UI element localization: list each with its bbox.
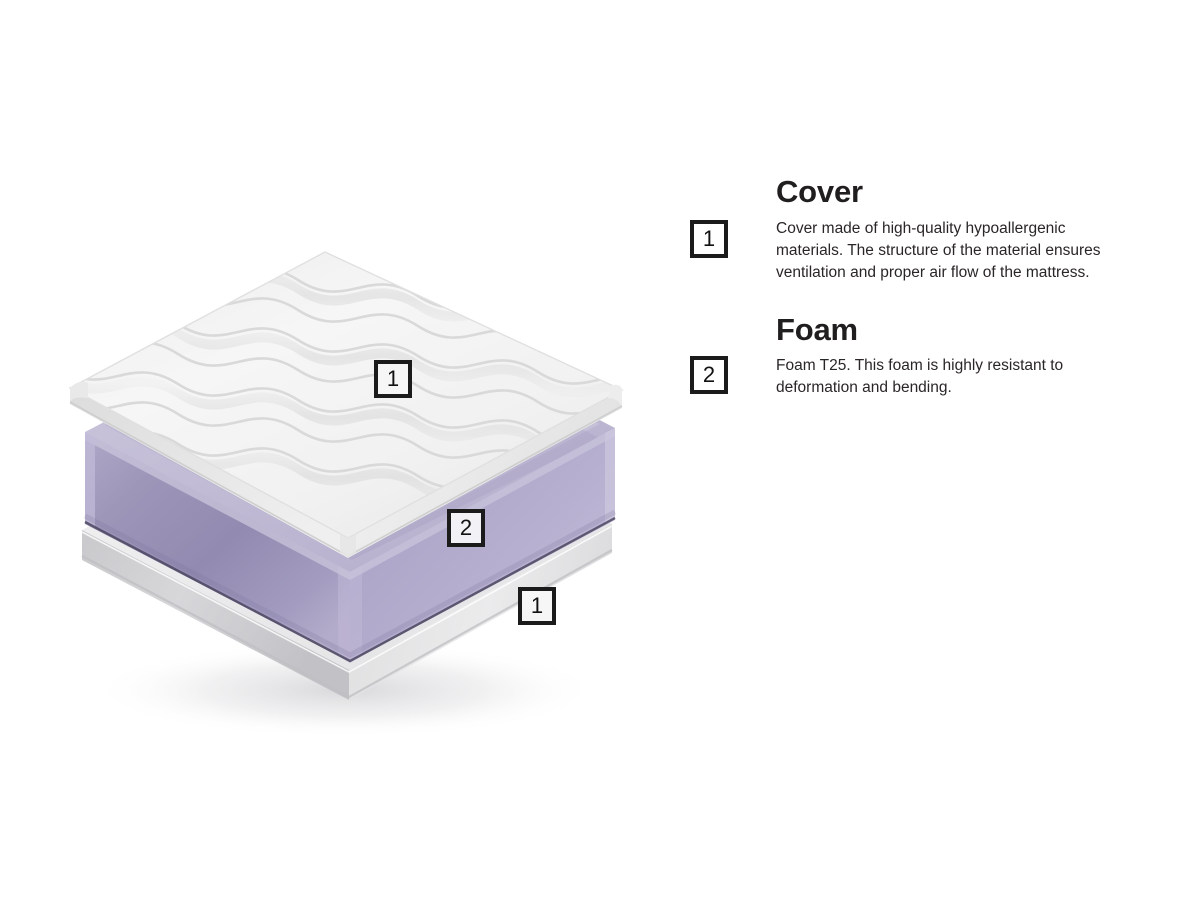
callout-badge-cover[interactable]: 1: [374, 360, 412, 398]
callout-badge-foam[interactable]: 2: [447, 509, 485, 547]
legend-text-block: Cover Cover made of high-quality hypoall…: [776, 176, 1130, 284]
legend-item-foam: 2 Foam Foam T25. This foam is highly res…: [690, 314, 1130, 400]
callout-badge-base-cover[interactable]: 1: [518, 587, 556, 625]
legend-description-cover: Cover made of high-quality hypoallergeni…: [776, 218, 1130, 284]
legend-badge-2: 2: [690, 356, 728, 394]
legend-panel: 1 Cover Cover made of high-quality hypoa…: [690, 176, 1130, 429]
legend-text-block: Foam Foam T25. This foam is highly resis…: [776, 314, 1130, 400]
legend-item-cover: 1 Cover Cover made of high-quality hypoa…: [690, 176, 1130, 284]
legend-badge-1: 1: [690, 220, 728, 258]
mattress-illustration: 1 2 1: [0, 0, 680, 899]
mattress-layers-figure: 1 2 1 1 Cover Cover made of high-quality…: [0, 0, 1200, 899]
legend-description-foam: Foam T25. This foam is highly resistant …: [776, 355, 1130, 399]
legend-title-foam: Foam: [776, 314, 1130, 347]
legend-title-cover: Cover: [776, 176, 1130, 209]
